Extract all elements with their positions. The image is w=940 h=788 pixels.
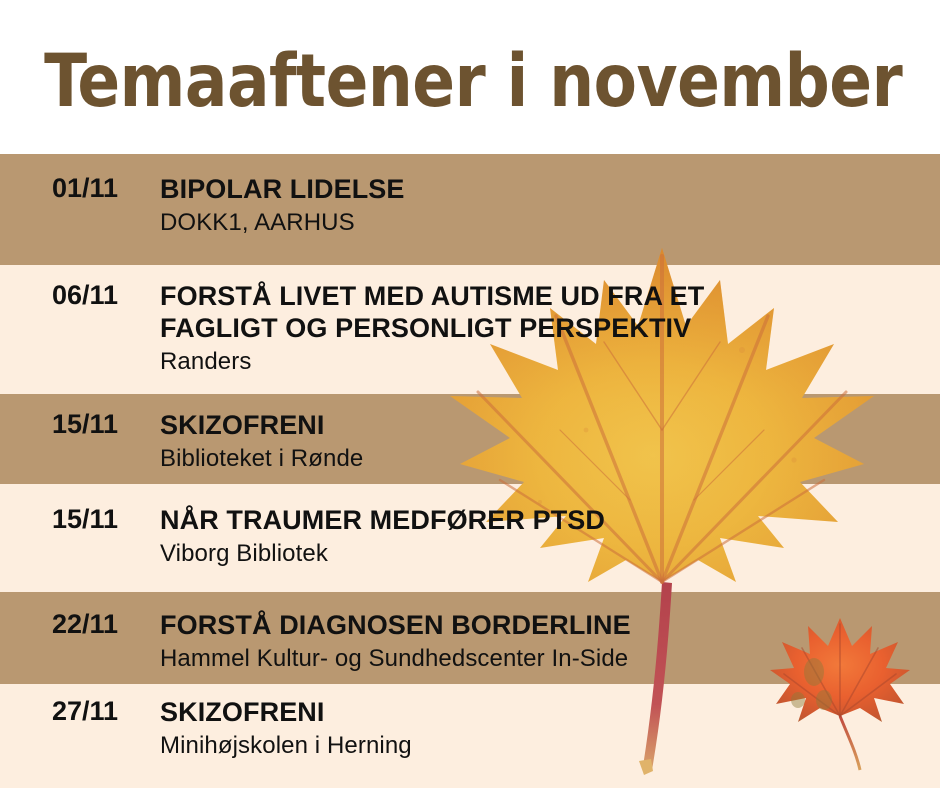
event-details: SKIZOFRENIMinihøjskolen i Herning bbox=[160, 697, 940, 761]
page-title: Temaaftener i november bbox=[0, 45, 902, 118]
event-date: 27/11 bbox=[0, 697, 160, 726]
event-venue: Biblioteket i Rønde bbox=[160, 445, 940, 474]
event-row: 27/11SKIZOFRENIMinihøjskolen i Herning bbox=[0, 697, 940, 761]
event-date: 01/11 bbox=[0, 174, 160, 203]
event-details: FORSTÅ LIVET MED AUTISME UD FRA ET FAGLI… bbox=[160, 281, 940, 377]
poster-canvas: Temaaftener i november 01/11BIPOLAR LIDE… bbox=[0, 0, 940, 788]
event-title: NÅR TRAUMER MEDFØRER PTSD bbox=[160, 505, 940, 537]
event-venue: Viborg Bibliotek bbox=[160, 540, 940, 569]
event-title: SKIZOFRENI bbox=[160, 410, 940, 442]
event-venue: DOKK1, AARHUS bbox=[160, 209, 940, 238]
event-details: BIPOLAR LIDELSEDOKK1, AARHUS bbox=[160, 174, 940, 238]
title-bar: Temaaftener i november bbox=[0, 0, 940, 154]
event-date: 06/11 bbox=[0, 281, 160, 310]
event-venue: Minihøjskolen i Herning bbox=[160, 732, 940, 761]
event-title: BIPOLAR LIDELSE bbox=[160, 174, 940, 206]
event-row: 15/11NÅR TRAUMER MEDFØRER PTSDViborg Bib… bbox=[0, 505, 940, 569]
event-details: SKIZOFRENIBiblioteket i Rønde bbox=[160, 410, 940, 474]
event-row: 01/11BIPOLAR LIDELSEDOKK1, AARHUS bbox=[0, 174, 940, 238]
event-details: NÅR TRAUMER MEDFØRER PTSDViborg Bibliote… bbox=[160, 505, 940, 569]
event-title: SKIZOFRENI bbox=[160, 697, 940, 729]
event-date: 15/11 bbox=[0, 410, 160, 439]
event-date: 15/11 bbox=[0, 505, 160, 534]
event-row: 15/11SKIZOFRENIBiblioteket i Rønde bbox=[0, 410, 940, 474]
event-row: 22/11FORSTÅ DIAGNOSEN BORDERLINEHammel K… bbox=[0, 610, 940, 674]
event-title: FORSTÅ DIAGNOSEN BORDERLINE bbox=[160, 610, 940, 642]
event-venue: Hammel Kultur- og Sundhedscenter In-Side bbox=[160, 645, 940, 674]
event-venue: Randers bbox=[160, 348, 940, 377]
event-title: FORSTÅ LIVET MED AUTISME UD FRA ET FAGLI… bbox=[160, 281, 940, 345]
event-details: FORSTÅ DIAGNOSEN BORDERLINEHammel Kultur… bbox=[160, 610, 940, 674]
event-row: 06/11FORSTÅ LIVET MED AUTISME UD FRA ET … bbox=[0, 281, 940, 377]
event-date: 22/11 bbox=[0, 610, 160, 639]
